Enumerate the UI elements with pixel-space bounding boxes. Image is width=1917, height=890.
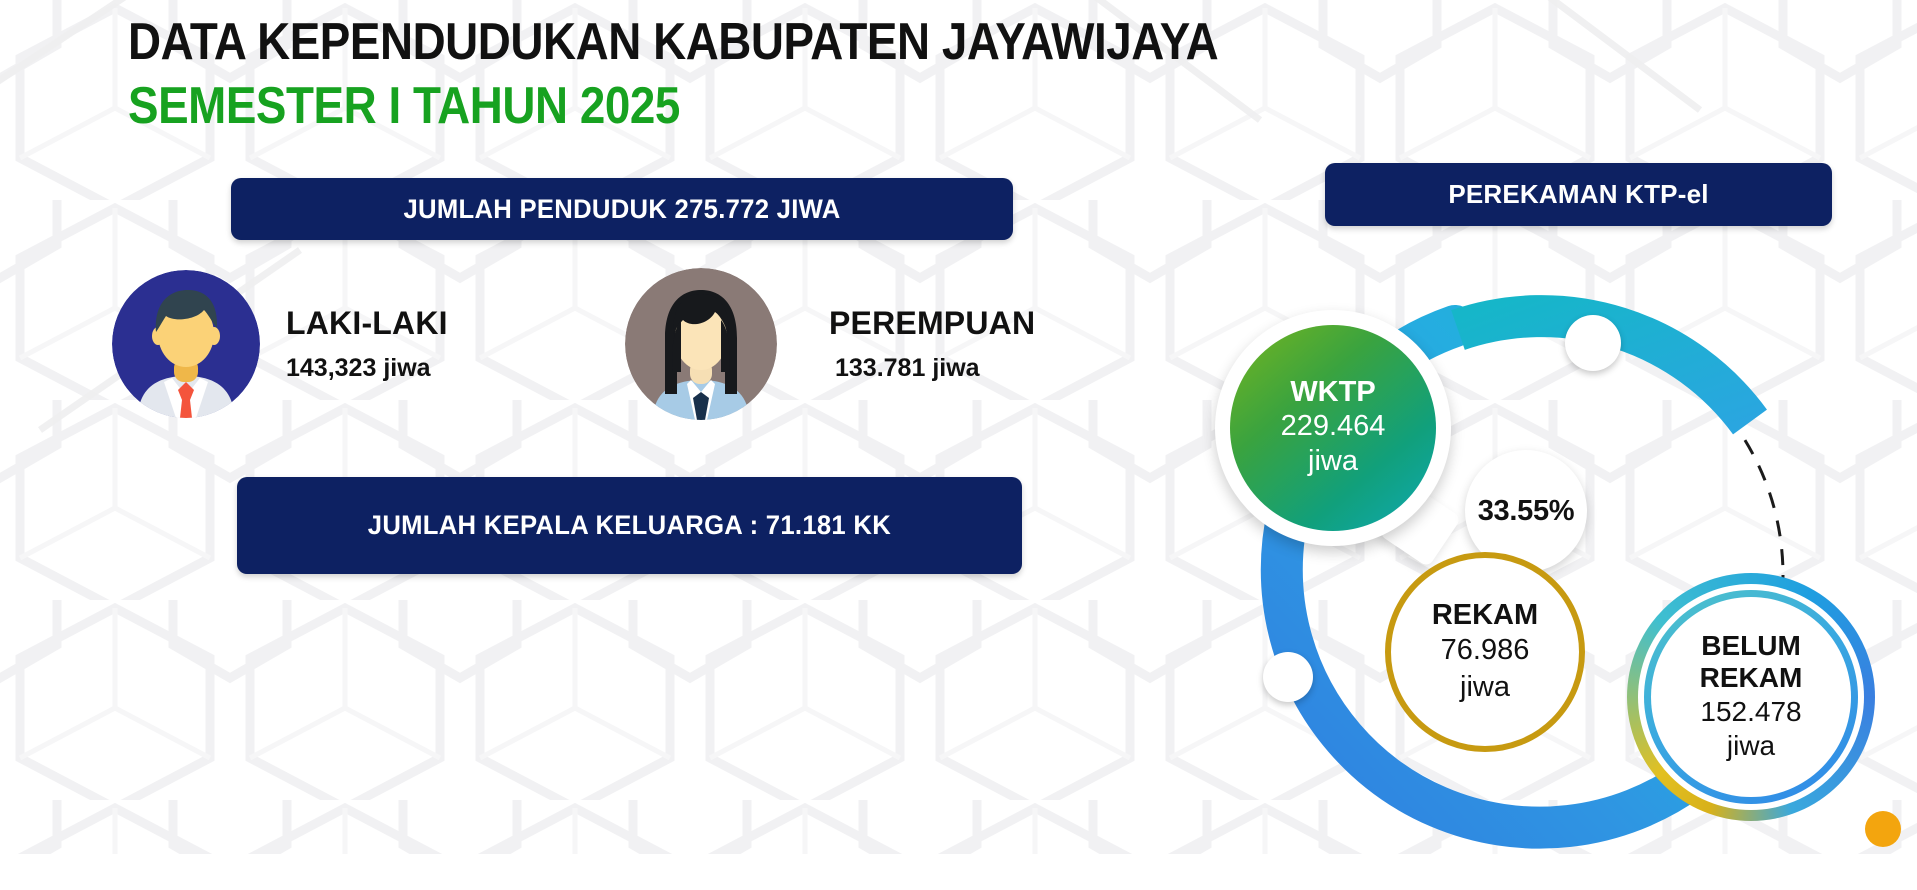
male-avatar <box>112 270 260 418</box>
gender-block-female: PEREMPUAN 133.781 jiwa <box>625 268 1035 420</box>
belum-rekam-bubble: BELUM REKAM 152.478 jiwa <box>1644 590 1858 804</box>
rekam-title: REKAM <box>1432 599 1538 632</box>
belum-rekam-title-line-2: REKAM <box>1700 662 1803 694</box>
families-banner: JUMLAH KEPALA KELUARGA : 71.181 KK <box>237 477 1022 574</box>
wktp-number: 229.464 <box>1281 409 1386 444</box>
wktp-title: WKTP <box>1290 376 1375 408</box>
population-banner: JUMLAH PENDUDUK 275.772 JIWA <box>231 178 1013 240</box>
page-title-line-2: SEMESTER I TAHUN 2025 <box>128 76 680 136</box>
ktp-banner: PEREKAMAN KTP-el <box>1325 163 1832 226</box>
percentage-text: 33.55% <box>1478 495 1575 527</box>
population-banner-label: JUMLAH PENDUDUK 275.772 JIWA <box>403 194 840 225</box>
belum-rekam-unit: jiwa <box>1727 729 1775 764</box>
ring-dot-marker-top <box>1565 315 1621 371</box>
wktp-unit: jiwa <box>1308 444 1358 479</box>
rekam-unit: jiwa <box>1460 669 1510 705</box>
wktp-bubble: WKTP 229.464 jiwa <box>1215 310 1451 546</box>
male-label: LAKI-LAKI <box>286 306 448 341</box>
ktp-banner-label: PEREKAMAN KTP-el <box>1448 179 1708 210</box>
male-text-block: LAKI-LAKI 143,323 jiwa <box>286 306 448 383</box>
belum-rekam-number: 152.478 <box>1700 695 1801 730</box>
female-label: PEREMPUAN <box>829 306 1035 341</box>
wktp-bubble-inner: WKTP 229.464 jiwa <box>1230 325 1436 531</box>
rekam-bubble: REKAM 76.986 jiwa <box>1385 552 1585 752</box>
ring-dot-marker-orange <box>1865 811 1901 847</box>
gender-block-male: LAKI-LAKI 143,323 jiwa <box>112 270 448 418</box>
belum-rekam-title-line-1: BELUM <box>1701 630 1801 662</box>
rekam-number: 76.986 <box>1441 632 1530 668</box>
female-text-block: PEREMPUAN 133.781 jiwa <box>827 306 1035 383</box>
ring-dot-marker-left <box>1263 652 1313 702</box>
female-value: 133.781 jiwa <box>835 355 1035 383</box>
families-banner-label: JUMLAH KEPALA KELUARGA : 71.181 KK <box>368 510 891 541</box>
page-title-line-1: DATA KEPENDUDUKAN KABUPATEN JAYAWIJAYA <box>128 12 1218 72</box>
male-value: 143,323 jiwa <box>286 355 448 383</box>
female-avatar <box>625 268 777 420</box>
percentage-value: 33.55% <box>1478 495 1575 528</box>
